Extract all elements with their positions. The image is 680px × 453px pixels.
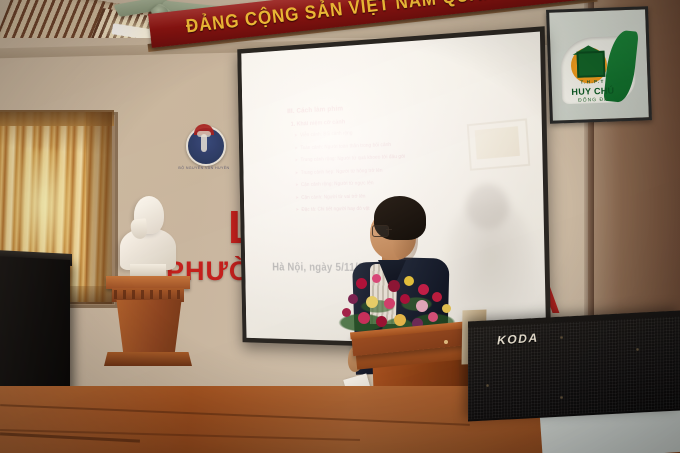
flower-bloom — [356, 278, 367, 289]
speaker-brand-label: KODA — [497, 331, 539, 348]
eyeglasses-icon — [372, 225, 389, 237]
flower-bloom — [442, 304, 451, 313]
wall-emblem-mark-icon — [201, 134, 207, 152]
flower-bloom — [404, 276, 414, 286]
eyeglasses-bridge-icon — [386, 229, 392, 230]
flower-bloom — [384, 298, 395, 309]
wall-emblem-label: BỘ NGUYỄN VĂN HUYÊN — [172, 166, 236, 171]
flower-bloom — [394, 314, 406, 326]
flower-bloom — [432, 292, 442, 302]
flower-bloom — [416, 300, 428, 312]
auditorium-photo: BỘ NGUYỄN VĂN HUYÊN L PHƯỜNG Á ĐẢNG CỘNG… — [0, 0, 680, 453]
flower-bloom — [428, 312, 438, 322]
speaker-screw — [486, 384, 489, 387]
slide-image-placeholder — [467, 118, 530, 171]
right-speaker-grille — [468, 316, 680, 419]
speaker-screw — [560, 336, 563, 339]
pedestal-slot-detail — [114, 290, 182, 299]
left-speaker-cabinet — [0, 256, 70, 400]
speaker-screw — [560, 396, 563, 399]
logo-house-icon — [577, 51, 606, 78]
speaker-screw — [636, 348, 639, 351]
flower-bloom — [358, 312, 370, 324]
flower-bloom — [342, 308, 351, 317]
flower-bloom — [372, 274, 381, 283]
flower-bloom — [366, 296, 378, 308]
slide-image-inner — [475, 126, 520, 159]
logo-text-line3: ĐỐNG ĐA — [564, 96, 622, 104]
pedestal-body — [112, 300, 186, 358]
school-logo-panel: T.H.P.T HUY CHÚ ĐỐNG ĐA — [546, 6, 652, 123]
flower-bloom — [388, 280, 400, 292]
flower-bloom — [400, 294, 410, 304]
flower-bloom — [376, 316, 387, 327]
pedestal-base — [104, 352, 192, 366]
projected-shadow-head — [465, 184, 509, 230]
podium-knob — [444, 340, 448, 344]
flower-bloom — [418, 284, 429, 295]
flower-bloom — [348, 294, 358, 304]
